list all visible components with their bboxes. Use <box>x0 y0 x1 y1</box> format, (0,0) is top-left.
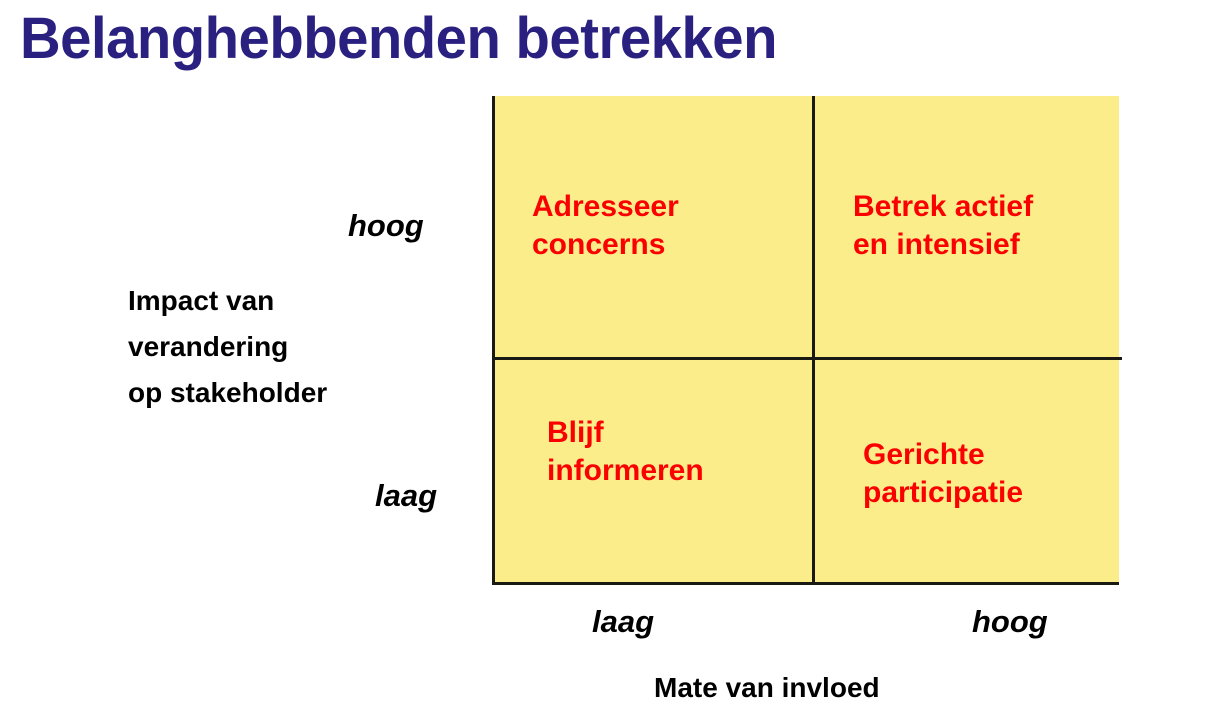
matrix-horizontal-divider <box>495 357 1122 360</box>
y-axis-high-label: hoog <box>348 208 424 244</box>
y-axis-low-label: laag <box>375 478 437 514</box>
page-title: Belanghebbenden betrekken <box>20 6 777 73</box>
quadrant-label-bottom-right: Gerichte participatie <box>863 436 1023 512</box>
quadrant-label-top-right: Betrek actief en intensief <box>853 188 1033 264</box>
x-axis-high-label: hoog <box>972 604 1048 640</box>
x-axis-low-label: laag <box>592 604 654 640</box>
matrix-vertical-divider <box>812 96 815 585</box>
y-axis-title: Impact van verandering op stakeholder <box>128 278 327 417</box>
x-axis-title: Mate van invloed <box>654 672 880 704</box>
quadrant-label-top-left: Adresseer concerns <box>532 188 679 264</box>
stakeholder-matrix: Adresseer concerns Betrek actief en inte… <box>492 96 1119 585</box>
quadrant-label-bottom-left: Blijf informeren <box>547 414 704 490</box>
